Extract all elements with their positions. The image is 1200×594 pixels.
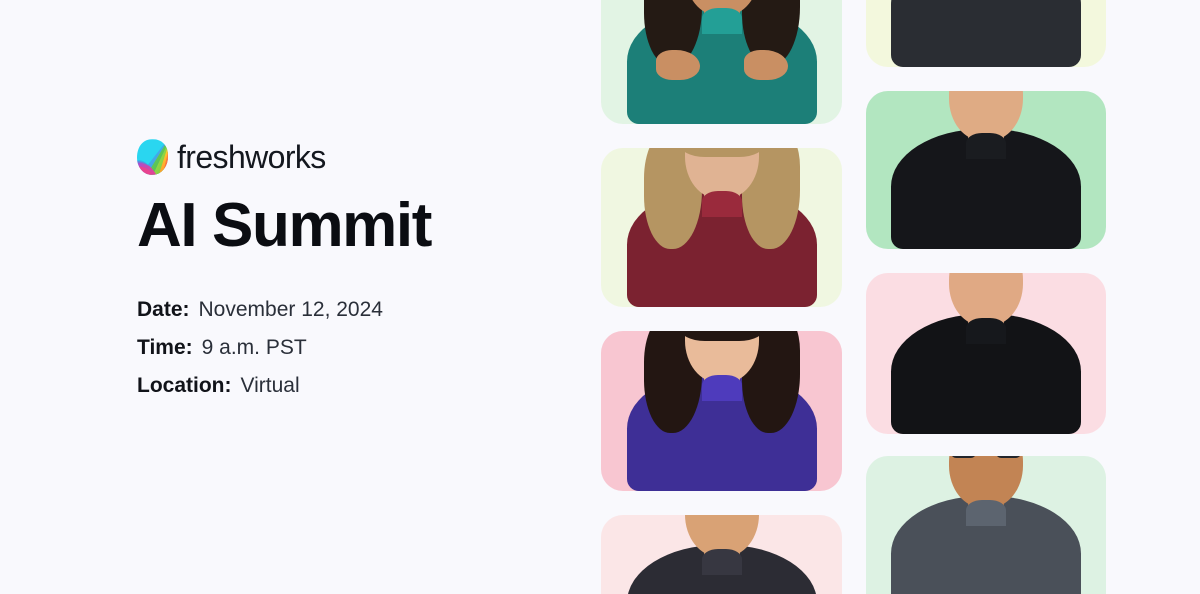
portrait-body [891,0,1081,67]
portrait-illustration [866,273,1106,434]
portrait-collar [966,133,1006,159]
portrait-illustration [601,331,842,491]
brand-wordmark: freshworks [177,141,326,173]
portrait-illustration [601,515,842,594]
freshworks-leaf-logo-icon [137,139,168,175]
portrait-collar [702,375,742,401]
speaker-photo-card[interactable] [601,331,842,491]
portrait-eyeglasses-icon [951,456,1022,458]
event-detail-date: Date: November 12, 2024 [137,291,567,329]
detail-label-time: Time: [137,329,193,367]
portrait-hand-right [744,50,788,80]
speaker-photo-card[interactable] [601,148,842,307]
speaker-photo-card[interactable] [601,515,842,594]
portrait-collar [702,8,742,34]
page-title: AI Summit [137,193,567,259]
portrait-illustration [601,148,842,307]
event-detail-time: Time: 9 a.m. PST [137,329,567,367]
speaker-photo-card[interactable] [866,456,1106,594]
portrait-collar [966,500,1006,526]
event-detail-location: Location: Virtual [137,367,567,405]
portrait-collar [966,318,1006,344]
portrait-illustration [601,0,842,124]
detail-label-location: Location: [137,367,232,405]
detail-label-date: Date: [137,291,190,329]
event-details-list: Date: November 12, 2024 Time: 9 a.m. PST… [137,291,567,405]
portrait-illustration [866,0,1106,67]
detail-value-location: Virtual [241,367,300,405]
portrait-collar [702,191,742,217]
speaker-photo-card[interactable] [866,0,1106,67]
portrait-illustration [866,456,1106,594]
portrait-collar [702,549,742,575]
event-landing-page: freshworks AI Summit Date: November 12, … [0,0,1200,594]
detail-value-time: 9 a.m. PST [202,329,307,367]
speaker-photo-card[interactable] [601,0,842,124]
brand-lockup: freshworks [137,135,567,179]
portrait-illustration [866,91,1106,249]
speaker-photo-card[interactable] [866,273,1106,434]
speaker-photo-card[interactable] [866,91,1106,249]
detail-value-date: November 12, 2024 [199,291,383,329]
hero-panel: freshworks AI Summit Date: November 12, … [137,135,567,405]
portrait-hand-left [656,50,700,80]
